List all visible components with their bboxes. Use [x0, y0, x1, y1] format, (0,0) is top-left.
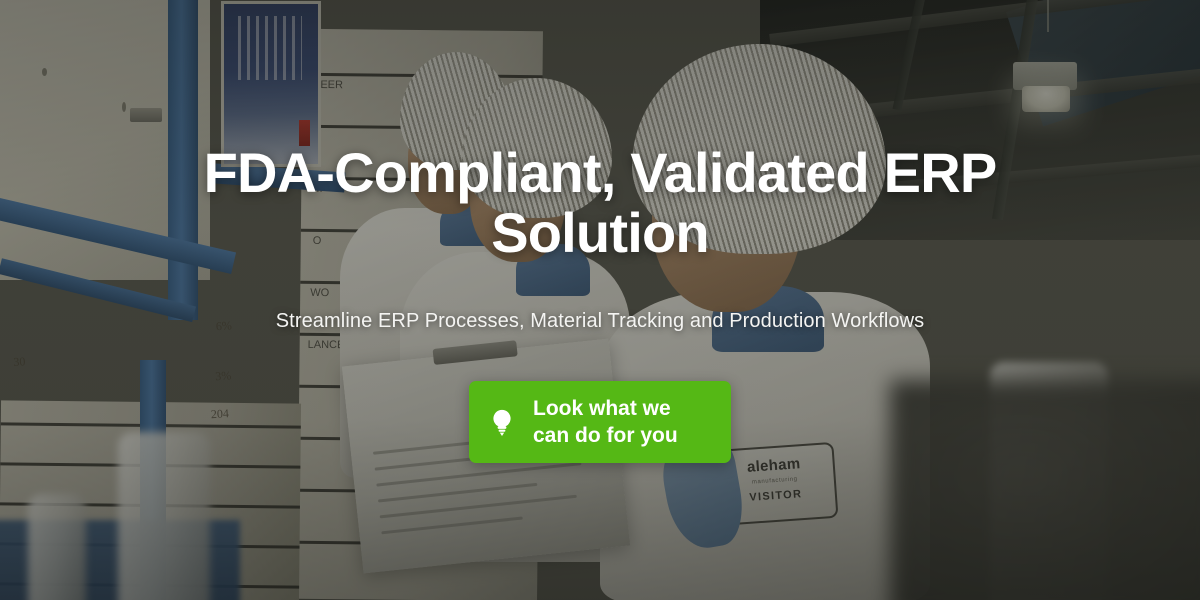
page-title: FDA-Compliant, Validated ERP Solution: [170, 143, 1030, 264]
hero-banner: NEER B M O WO LANCE KM 6% 3% 204 30: [0, 0, 1200, 600]
hero-content: FDA-Compliant, Validated ERP Solution St…: [0, 0, 1200, 600]
lightbulb-icon: [489, 407, 515, 437]
cta-button-label: Look what we can do for you: [533, 395, 678, 450]
cta-button[interactable]: Look what we can do for you: [469, 381, 731, 464]
hero-subtitle: Streamline ERP Processes, Material Track…: [276, 310, 925, 333]
